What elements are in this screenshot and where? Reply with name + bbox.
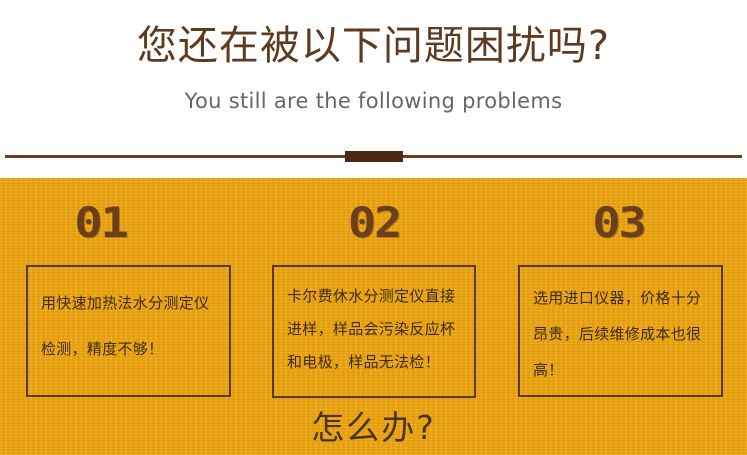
problem-number-03: 03 — [504, 200, 734, 246]
footer-cta-text: 怎么办? — [0, 406, 747, 450]
problem-column-01: 01 用快速加热法水分测定仪检测，精度不够！ — [26, 178, 231, 408]
problem-text-03: 选用进口仪器，价格十分昂贵，后续维修成本也很高！ — [533, 280, 709, 388]
problems-panel: 01 用快速加热法水分测定仪检测，精度不够！ 02 卡尔费休水分测定仪直接进样，… — [0, 178, 747, 455]
problem-number-01: 01 — [0, 200, 215, 246]
problem-number-02: 02 — [260, 200, 488, 246]
problem-text-02: 卡尔费休水分测定仪直接进样，样品会污染反应杯和电极，样品无法检！ — [287, 280, 462, 379]
promo-banner: 您还在被以下问题困扰吗? You still are the following… — [0, 0, 747, 455]
page-title: 您还在被以下问题困扰吗? — [0, 22, 747, 70]
problem-text-01: 用快速加热法水分测定仪检测，精度不够！ — [41, 280, 217, 372]
problem-column-02: 02 卡尔费休水分测定仪直接进样，样品会污染反应杯和电极，样品无法检！ — [272, 178, 476, 408]
header-section: 您还在被以下问题困扰吗? You still are the following… — [0, 0, 747, 178]
problem-box-02: 卡尔费休水分测定仪直接进样，样品会污染反应杯和电极，样品无法检！ — [272, 265, 476, 398]
problem-column-03: 03 选用进口仪器，价格十分昂贵，后续维修成本也很高！ — [518, 178, 723, 408]
page-subtitle: You still are the following problems — [0, 86, 747, 116]
divider — [0, 151, 747, 165]
problem-box-01: 用快速加热法水分测定仪检测，精度不够！ — [26, 265, 231, 397]
problem-box-03: 选用进口仪器，价格十分昂贵，后续维修成本也很高！ — [518, 265, 723, 397]
divider-center-block — [345, 151, 403, 162]
